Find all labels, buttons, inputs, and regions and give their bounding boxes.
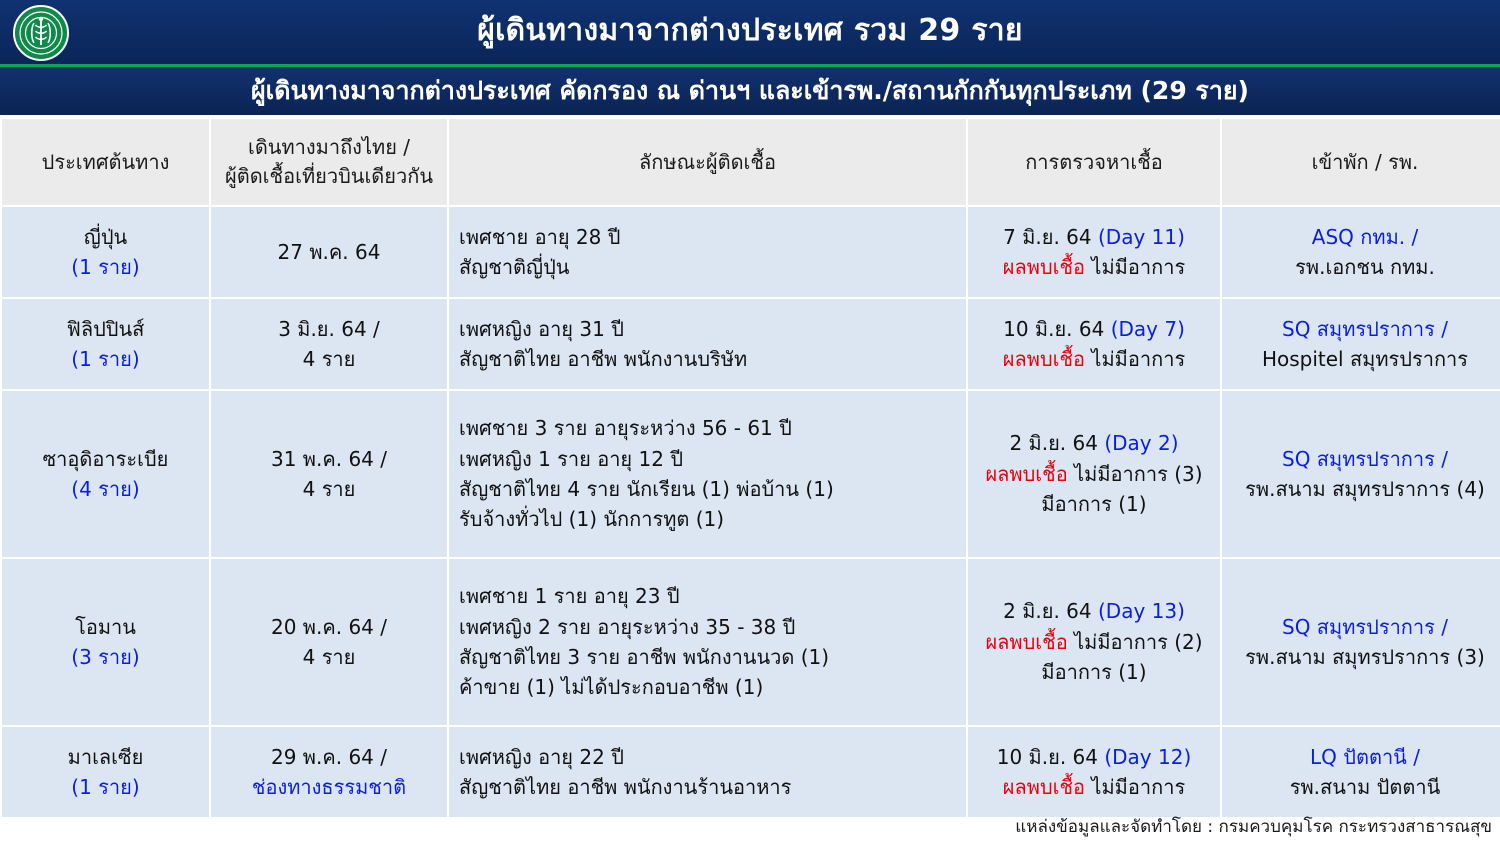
test-date-line: 10 มิ.ย. 64 (Day 12) — [978, 742, 1210, 772]
country-case-count: (4 ราย) — [12, 474, 199, 504]
page-subtitle: ผู้เดินทางมาจากต่างประเทศ คัดกรอง ณ ด่าน… — [251, 78, 1249, 105]
quarantine-facility: SQ สมุทรปราการ / — [1232, 444, 1498, 474]
arrival-date: 20 พ.ค. 64 / — [221, 612, 437, 642]
cell-case-profile: เพศหญิง อายุ 22 ปี สัญชาติไทย อาชีพ พนัก… — [449, 727, 966, 817]
table-header-row: ประเทศต้นทาง เดินทางมาถึงไทย / ผู้ติดเชื… — [2, 119, 1500, 205]
test-result-positive: ผลพบเชื้อ — [1003, 775, 1085, 799]
cell-case-profile: เพศชาย 3 ราย อายุระหว่าง 56 - 61 ปี เพศห… — [449, 391, 966, 557]
arrival-date: 27 พ.ค. 64 — [221, 237, 437, 267]
cell-testing: 10 มิ.ย. 64 (Day 12) ผลพบเชื้อ ไม่มีอากา… — [968, 727, 1220, 817]
table-row: ซาอุดิอาระเบีย (4 ราย) 31 พ.ค. 64 / 4 รา… — [2, 391, 1500, 557]
cell-origin-country: ญี่ปุ่น (1 ราย) — [2, 207, 209, 297]
cell-arrival: 29 พ.ค. 64 / ช่องทางธรรมชาติ — [211, 727, 447, 817]
cell-arrival: 27 พ.ค. 64 — [211, 207, 447, 297]
test-day: (Day 2) — [1104, 431, 1178, 455]
country-case-count: (3 ราย) — [12, 642, 199, 672]
cell-accommodation: SQ สมุทรปราการ / รพ.สนาม สมุทรปราการ (3) — [1222, 559, 1500, 725]
test-date-line: 7 มิ.ย. 64 (Day 11) — [978, 222, 1210, 252]
test-symptom: ไม่มีอาการ (3) — [1068, 462, 1203, 486]
column-header-testing: การตรวจหาเชื้อ — [968, 119, 1220, 205]
same-flight-cases: 4 ราย — [221, 642, 437, 672]
same-flight-cases: 4 ราย — [221, 344, 437, 374]
table-row: ญี่ปุ่น (1 ราย) 27 พ.ค. 64 เพศชาย อายุ 2… — [2, 207, 1500, 297]
profile-line: เพศชาย 1 ราย อายุ 23 ปี — [459, 581, 956, 611]
test-day: (Day 7) — [1111, 317, 1185, 341]
profile-line: เพศหญิง 2 ราย อายุระหว่าง 35 - 38 ปี — [459, 612, 956, 642]
profile-line: เพศชาย 3 ราย อายุระหว่าง 56 - 61 ปี — [459, 413, 956, 443]
cell-accommodation: LQ ปัตตานี / รพ.สนาม ปัตตานี — [1222, 727, 1500, 817]
cell-testing: 7 มิ.ย. 64 (Day 11) ผลพบเชื้อ ไม่มีอาการ — [968, 207, 1220, 297]
cell-arrival: 20 พ.ค. 64 / 4 ราย — [211, 559, 447, 725]
profile-line: เพศชาย อายุ 28 ปี — [459, 222, 956, 252]
quarantine-facility: ASQ กทม. / — [1232, 222, 1498, 252]
quarantine-facility: LQ ปัตตานี / — [1232, 742, 1498, 772]
moph-logo-icon — [12, 4, 70, 62]
column-header-arrival-line1: เดินทางมาถึงไทย / — [217, 133, 441, 162]
test-date: 10 มิ.ย. 64 — [997, 745, 1105, 769]
test-result-positive: ผลพบเชื้อ — [985, 630, 1067, 654]
profile-line: เพศหญิง 1 ราย อายุ 12 ปี — [459, 444, 956, 474]
country-case-count: (1 ราย) — [12, 252, 199, 282]
test-result-positive: ผลพบเชื้อ — [1003, 347, 1085, 371]
table-row: โอมาน (3 ราย) 20 พ.ค. 64 / 4 ราย เพศชาย … — [2, 559, 1500, 725]
hospital: Hospitel สมุทรปราการ — [1232, 344, 1498, 374]
test-symptomatic: มีอาการ (1) — [978, 657, 1210, 687]
profile-line: สัญชาติไทย อาชีพ พนักงานร้านอาหาร — [459, 772, 956, 802]
column-header-case-profile: ลักษณะผู้ติดเชื้อ — [449, 119, 966, 205]
profile-line: สัญชาติญี่ปุ่น — [459, 252, 956, 282]
title-bar: ผู้เดินทางมาจากต่างประเทศ รวม 29 ราย — [0, 0, 1500, 67]
cell-testing: 2 มิ.ย. 64 (Day 2) ผลพบเชื้อ ไม่มีอาการ … — [968, 391, 1220, 557]
table-row: ฟิลิปปินส์ (1 ราย) 3 มิ.ย. 64 / 4 ราย เพ… — [2, 299, 1500, 389]
page-title: ผู้เดินทางมาจากต่างประเทศ รวม 29 ราย — [477, 16, 1023, 48]
cell-testing: 2 มิ.ย. 64 (Day 13) ผลพบเชื้อ ไม่มีอาการ… — [968, 559, 1220, 725]
cell-origin-country: โอมาน (3 ราย) — [2, 559, 209, 725]
profile-line: สัญชาติไทย อาชีพ พนักงานบริษัท — [459, 344, 956, 374]
hospital: รพ.สนาม สมุทรปราการ (3) — [1232, 642, 1498, 672]
test-result-line: ผลพบเชื้อ ไม่มีอาการ (2) — [978, 627, 1210, 657]
country-case-count: (1 ราย) — [12, 344, 199, 374]
cell-testing: 10 มิ.ย. 64 (Day 7) ผลพบเชื้อ ไม่มีอาการ — [968, 299, 1220, 389]
infographic-page: ผู้เดินทางมาจากต่างประเทศ รวม 29 ราย ผู้… — [0, 0, 1500, 844]
column-header-origin-country: ประเทศต้นทาง — [2, 119, 209, 205]
subtitle-bar: ผู้เดินทางมาจากต่างประเทศ คัดกรอง ณ ด่าน… — [0, 67, 1500, 115]
test-date-line: 2 มิ.ย. 64 (Day 2) — [978, 428, 1210, 458]
country-case-count: (1 ราย) — [12, 772, 199, 802]
test-symptom: ไม่มีอาการ — [1085, 347, 1185, 371]
source-credit: แหล่งข้อมูลและจัดทำโดย : กรมควบคุมโรค กร… — [1015, 813, 1492, 840]
cell-case-profile: เพศชาย 1 ราย อายุ 23 ปี เพศหญิง 2 ราย อา… — [449, 559, 966, 725]
test-symptom: ไม่มีอาการ — [1085, 775, 1185, 799]
cell-arrival: 3 มิ.ย. 64 / 4 ราย — [211, 299, 447, 389]
hospital: รพ.เอกชน กทม. — [1232, 252, 1498, 282]
cell-origin-country: ซาอุดิอาระเบีย (4 ราย) — [2, 391, 209, 557]
arrival-date: 29 พ.ค. 64 / — [221, 742, 437, 772]
test-date: 7 มิ.ย. 64 — [1003, 225, 1098, 249]
arrival-date: 31 พ.ค. 64 / — [221, 444, 437, 474]
same-flight-cases: 4 ราย — [221, 474, 437, 504]
profile-line: เพศหญิง อายุ 22 ปี — [459, 742, 956, 772]
cases-table: ประเทศต้นทาง เดินทางมาถึงไทย / ผู้ติดเชื… — [0, 117, 1500, 819]
cell-case-profile: เพศหญิง อายุ 31 ปี สัญชาติไทย อาชีพ พนัก… — [449, 299, 966, 389]
column-header-accommodation: เข้าพัก / รพ. — [1222, 119, 1500, 205]
test-symptomatic: มีอาการ (1) — [978, 489, 1210, 519]
test-date: 10 มิ.ย. 64 — [1003, 317, 1111, 341]
column-header-arrival: เดินทางมาถึงไทย / ผู้ติดเชื้อเที่ยวบินเด… — [211, 119, 447, 205]
cell-accommodation: SQ สมุทรปราการ / Hospitel สมุทรปราการ — [1222, 299, 1500, 389]
hospital: รพ.สนาม ปัตตานี — [1232, 772, 1498, 802]
table-row: มาเลเซีย (1 ราย) 29 พ.ค. 64 / ช่องทางธรร… — [2, 727, 1500, 817]
profile-line: รับจ้างทั่วไป (1) นักการทูต (1) — [459, 504, 956, 534]
cell-origin-country: มาเลเซีย (1 ราย) — [2, 727, 209, 817]
test-symptom: ไม่มีอาการ — [1085, 255, 1185, 279]
test-date-line: 2 มิ.ย. 64 (Day 13) — [978, 596, 1210, 626]
test-result-line: ผลพบเชื้อ ไม่มีอาการ — [978, 772, 1210, 802]
arrival-date: 3 มิ.ย. 64 / — [221, 314, 437, 344]
country-name: มาเลเซีย — [12, 742, 199, 772]
test-day: (Day 13) — [1098, 599, 1185, 623]
profile-line: สัญชาติไทย 4 ราย นักเรียน (1) พ่อบ้าน (1… — [459, 474, 956, 504]
profile-line: เพศหญิง อายุ 31 ปี — [459, 314, 956, 344]
cell-accommodation: SQ สมุทรปราการ / รพ.สนาม สมุทรปราการ (4) — [1222, 391, 1500, 557]
cell-origin-country: ฟิลิปปินส์ (1 ราย) — [2, 299, 209, 389]
cell-case-profile: เพศชาย อายุ 28 ปี สัญชาติญี่ปุ่น — [449, 207, 966, 297]
test-date: 2 มิ.ย. 64 — [1003, 599, 1098, 623]
test-date-line: 10 มิ.ย. 64 (Day 7) — [978, 314, 1210, 344]
test-symptom: ไม่มีอาการ (2) — [1068, 630, 1203, 654]
profile-line: ค้าขาย (1) ไม่ได้ประกอบอาชีพ (1) — [459, 672, 956, 702]
country-name: ญี่ปุ่น — [12, 222, 199, 252]
country-name: ฟิลิปปินส์ — [12, 314, 199, 344]
hospital: รพ.สนาม สมุทรปราการ (4) — [1232, 474, 1498, 504]
test-date: 2 มิ.ย. 64 — [1009, 431, 1104, 455]
test-result-positive: ผลพบเชื้อ — [1003, 255, 1085, 279]
test-result-line: ผลพบเชื้อ ไม่มีอาการ — [978, 252, 1210, 282]
column-header-arrival-line2: ผู้ติดเชื้อเที่ยวบินเดียวกัน — [217, 162, 441, 191]
test-result-line: ผลพบเชื้อ ไม่มีอาการ (3) — [978, 459, 1210, 489]
profile-line: สัญชาติไทย 3 ราย อาชีพ พนักงานนวด (1) — [459, 642, 956, 672]
cell-arrival: 31 พ.ค. 64 / 4 ราย — [211, 391, 447, 557]
entry-channel: ช่องทางธรรมชาติ — [221, 772, 437, 802]
quarantine-facility: SQ สมุทรปราการ / — [1232, 314, 1498, 344]
country-name: โอมาน — [12, 612, 199, 642]
cell-accommodation: ASQ กทม. / รพ.เอกชน กทม. — [1222, 207, 1500, 297]
test-day: (Day 11) — [1098, 225, 1185, 249]
quarantine-facility: SQ สมุทรปราการ / — [1232, 612, 1498, 642]
test-day: (Day 12) — [1104, 745, 1191, 769]
test-result-line: ผลพบเชื้อ ไม่มีอาการ — [978, 344, 1210, 374]
country-name: ซาอุดิอาระเบีย — [12, 444, 199, 474]
test-result-positive: ผลพบเชื้อ — [985, 462, 1067, 486]
